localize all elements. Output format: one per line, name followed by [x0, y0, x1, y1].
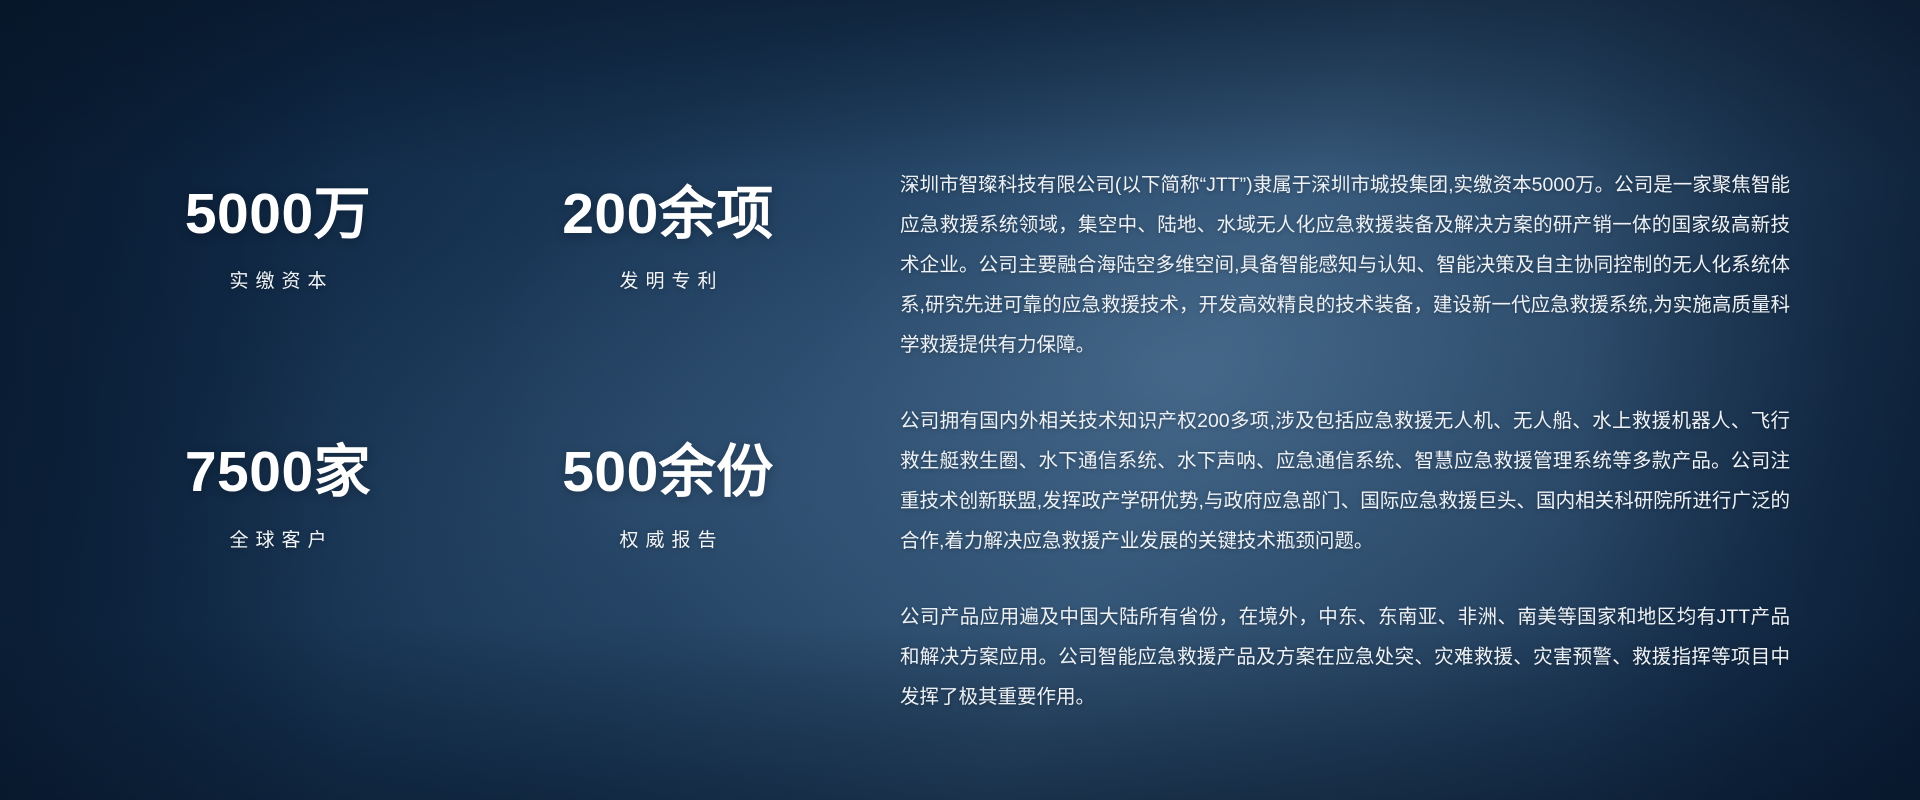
description-paragraph: 公司产品应用遍及中国大陆所有省份，在境外，中东、东南亚、非洲、南美等国家和地区均…: [900, 597, 1790, 717]
stat-value: 200余项: [508, 185, 828, 244]
statistics-panel: 5000万 实缴资本 200余项 发明专利 7500家 全球客户 500余份 权…: [0, 0, 900, 552]
stat-paid-in-capital: 5000万 实缴资本: [118, 185, 438, 293]
company-description-panel: 深圳市智璨科技有限公司(以下简称“JTT”)隶属于深圳市城投集团,实缴资本500…: [900, 0, 1920, 717]
stat-global-customers: 7500家 全球客户: [118, 443, 438, 551]
stat-value: 7500家: [118, 443, 438, 502]
company-profile-banner: 5000万 实缴资本 200余项 发明专利 7500家 全球客户 500余份 权…: [0, 0, 1920, 800]
stat-label: 全球客户: [118, 525, 438, 552]
stat-label: 权威报告: [508, 525, 828, 552]
stat-label: 发明专利: [508, 266, 828, 293]
stat-authoritative-reports: 500余份 权威报告: [508, 443, 828, 551]
description-paragraph: 深圳市智璨科技有限公司(以下简称“JTT”)隶属于深圳市城投集团,实缴资本500…: [900, 165, 1790, 365]
description-paragraph: 公司拥有国内外相关技术知识产权200多项,涉及包括应急救援无人机、无人船、水上救…: [900, 401, 1790, 561]
banner-content: 5000万 实缴资本 200余项 发明专利 7500家 全球客户 500余份 权…: [0, 0, 1920, 800]
stat-invention-patents: 200余项 发明专利: [508, 185, 828, 293]
stat-value: 5000万: [118, 185, 438, 244]
stat-value: 500余份: [508, 443, 828, 502]
stat-label: 实缴资本: [118, 266, 438, 293]
statistics-grid: 5000万 实缴资本 200余项 发明专利 7500家 全球客户 500余份 权…: [118, 185, 900, 552]
